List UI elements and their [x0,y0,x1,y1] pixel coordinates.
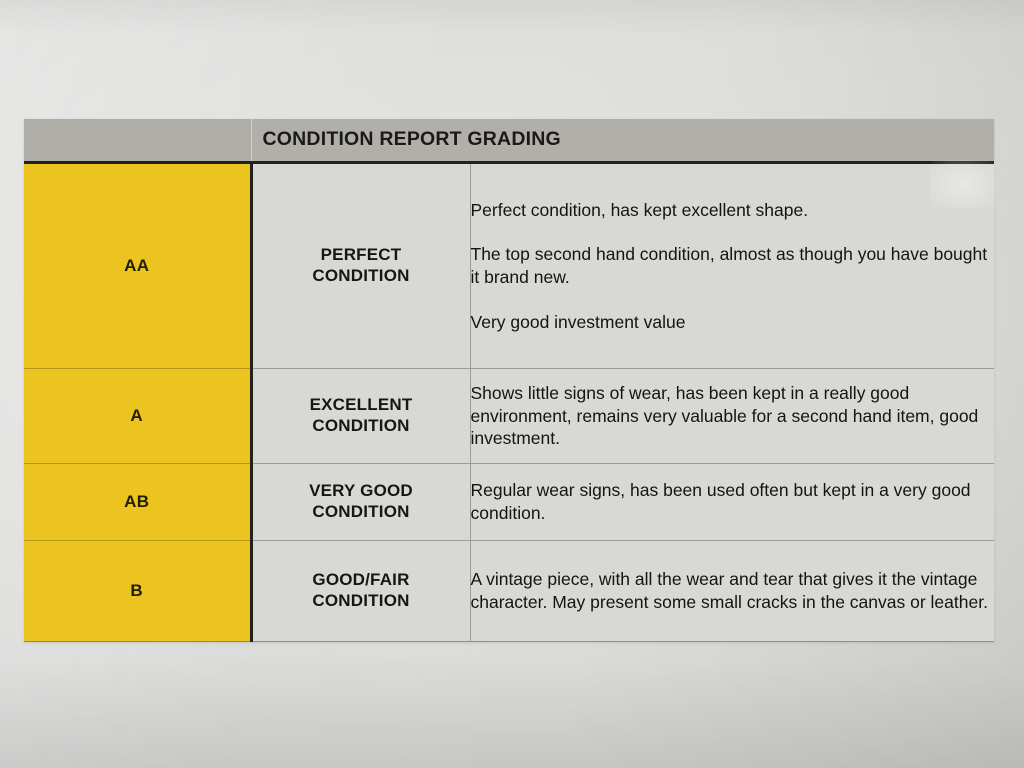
grade-cell-aa: AA [24,163,251,369]
description-paragraph: The top second hand condition, almost as… [471,243,995,289]
condition-name-cell-aa: PERFECT CONDITION [251,163,470,369]
grade-cell-a: A [24,369,251,464]
description-paragraph: Perfect condition, has kept excellent sh… [471,199,995,222]
condition-name-line2: CONDITION [312,502,409,521]
description-cell-aa: Perfect condition, has kept excellent sh… [470,163,994,369]
condition-name-line2: CONDITION [312,266,409,285]
table-row: A EXCELLENT CONDITION Shows little signs… [24,369,994,464]
table-row: AA PERFECT CONDITION Perfect condition, … [24,163,994,369]
condition-name-line2: CONDITION [312,416,409,435]
condition-name-line1: VERY GOOD [309,481,413,500]
grade-cell-ab: AB [24,464,251,541]
description-paragraph: Very good investment value [471,311,995,334]
table-head: CONDITION REPORT GRADING [24,119,994,163]
table-body: AA PERFECT CONDITION Perfect condition, … [24,163,994,642]
table-row: AB VERY GOOD CONDITION Regular wear sign… [24,464,994,541]
condition-name-cell-a: EXCELLENT CONDITION [251,369,470,464]
description-cell-a: Shows little signs of wear, has been kep… [470,369,994,464]
condition-name-line1: EXCELLENT [310,395,413,414]
condition-name-line1: GOOD/FAIR [312,570,409,589]
description-paragraph: A vintage piece, with all the wear and t… [471,568,995,614]
table-header-row: CONDITION REPORT GRADING [24,119,994,163]
table-row: B GOOD/FAIR CONDITION A vintage piece, w… [24,541,994,642]
condition-name-line1: PERFECT [321,245,402,264]
description-paragraph: Regular wear signs, has been used often … [471,479,995,525]
description-cell-b: A vintage piece, with all the wear and t… [470,541,994,642]
page-title: CONDITION REPORT GRADING [252,130,995,150]
description-cell-ab: Regular wear signs, has been used often … [470,464,994,541]
header-spacer-cell [24,119,251,163]
grade-cell-b: B [24,541,251,642]
condition-name-line2: CONDITION [312,591,409,610]
header-title-cell: CONDITION REPORT GRADING [251,119,994,163]
condition-name-cell-ab: VERY GOOD CONDITION [251,464,470,541]
condition-name-cell-b: GOOD/FAIR CONDITION [251,541,470,642]
condition-grading-table: CONDITION REPORT GRADING AA PERFECT COND… [24,119,994,642]
description-paragraph: Shows little signs of wear, has been kep… [471,382,995,450]
